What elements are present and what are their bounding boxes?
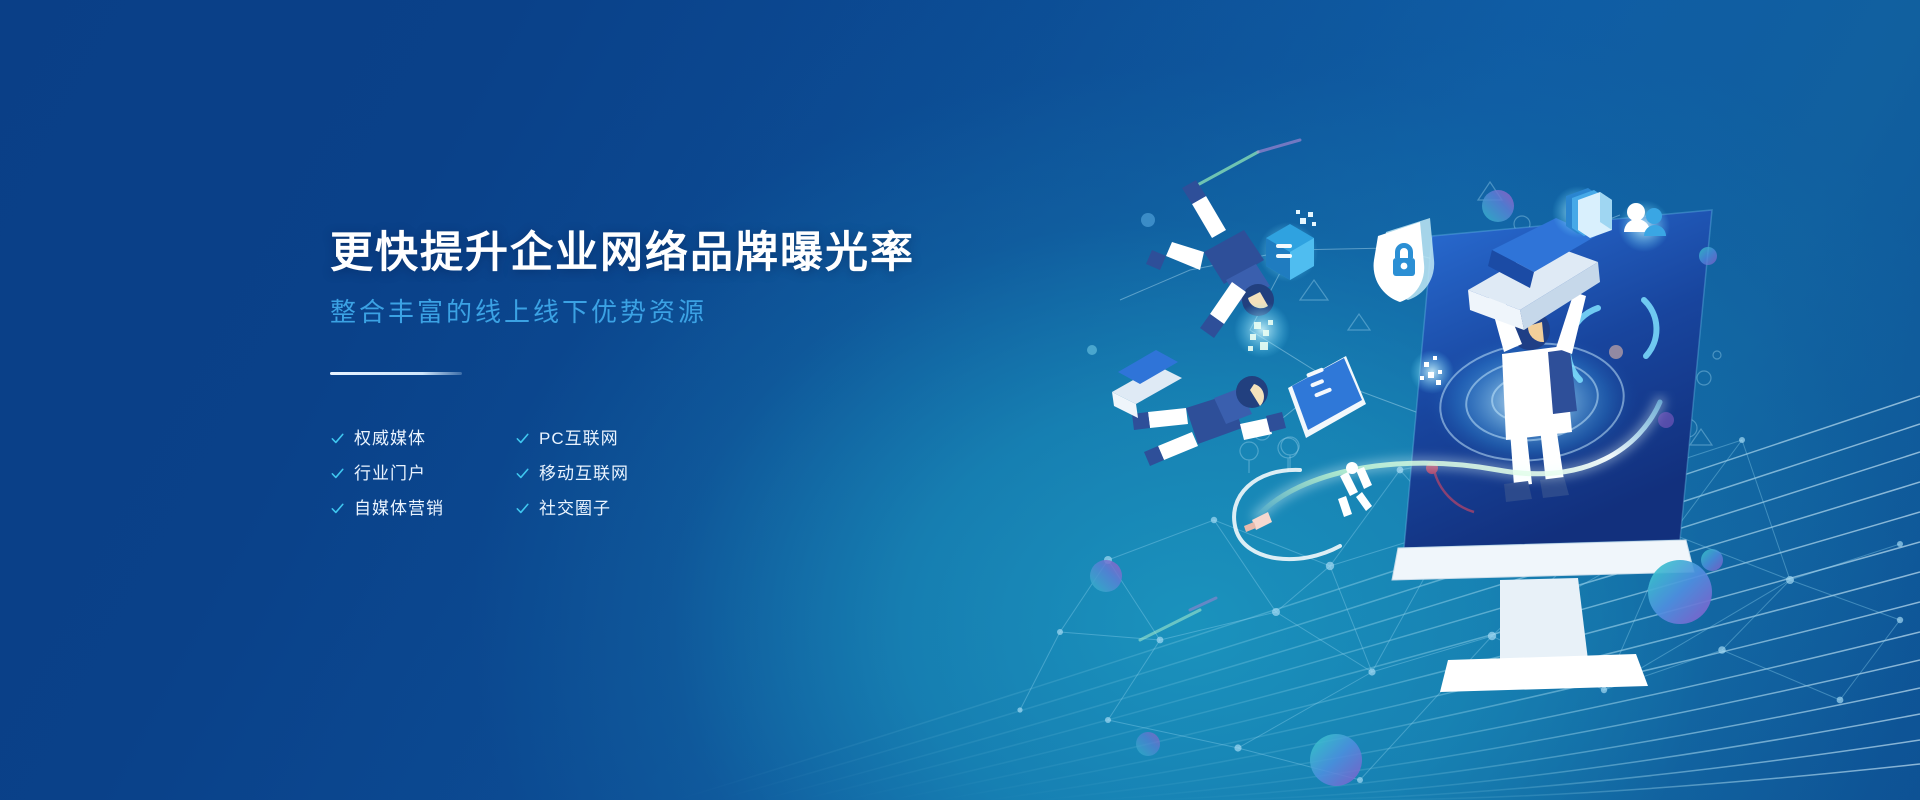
background-network-mesh xyxy=(0,0,1920,800)
feature-item-social-circle: 社交圈子 xyxy=(515,500,725,517)
page-title: 更快提升企业网络品牌曝光率 xyxy=(330,228,950,279)
feature-label: 自媒体营销 xyxy=(354,500,444,517)
astronaut-lower xyxy=(1132,376,1286,466)
feature-label: 权威媒体 xyxy=(354,430,426,447)
title-divider xyxy=(330,372,462,375)
feature-item-pc-internet: PC互联网 xyxy=(515,430,725,447)
page-subtitle: 整合丰富的线上线下优势资源 xyxy=(330,297,950,328)
feature-item-mobile-internet: 移动互联网 xyxy=(515,465,725,482)
community-icon xyxy=(1618,200,1670,252)
check-icon xyxy=(330,431,345,446)
check-icon xyxy=(515,501,530,516)
figure-on-monitor xyxy=(1468,218,1600,502)
tech-space-illustration xyxy=(0,0,1920,800)
check-icon xyxy=(330,501,345,516)
feature-item-industry-portal: 行业门户 xyxy=(330,465,515,482)
astronaut-upper xyxy=(1146,180,1290,358)
gradient-spheres xyxy=(1087,190,1723,786)
feature-label: 移动互联网 xyxy=(539,465,629,482)
feature-label: PC互联网 xyxy=(539,430,619,447)
sparkle-cluster xyxy=(1410,350,1454,394)
check-icon xyxy=(515,431,530,446)
feature-label: 行业门户 xyxy=(354,465,426,482)
tablet-device xyxy=(1288,356,1366,438)
desktop-monitor xyxy=(1392,210,1712,692)
feature-item-self-media-marketing: 自媒体营销 xyxy=(330,500,515,517)
check-icon xyxy=(515,466,530,481)
background-arc-lines xyxy=(0,0,1920,800)
orbit-light-trail xyxy=(1234,402,1660,559)
shield-lock-icon xyxy=(1374,218,1435,302)
laptop-device xyxy=(1112,350,1182,418)
feature-list: 权威媒体 PC互联网 行业门户 移动互联网 xyxy=(330,421,950,526)
hero-banner: 更快提升企业网络品牌曝光率 整合丰富的线上线下优势资源 权威媒体 PC互联网 xyxy=(0,0,1920,800)
feature-label: 社交圈子 xyxy=(539,500,611,517)
check-icon xyxy=(330,466,345,481)
hero-copy: 更快提升企业网络品牌曝光率 整合丰富的线上线下优势资源 权威媒体 PC互联网 xyxy=(330,228,950,526)
feature-item-authoritative-media: 权威媒体 xyxy=(330,430,515,447)
cloud-server-icon xyxy=(1258,210,1318,282)
stacked-cards-icon xyxy=(1552,186,1612,238)
